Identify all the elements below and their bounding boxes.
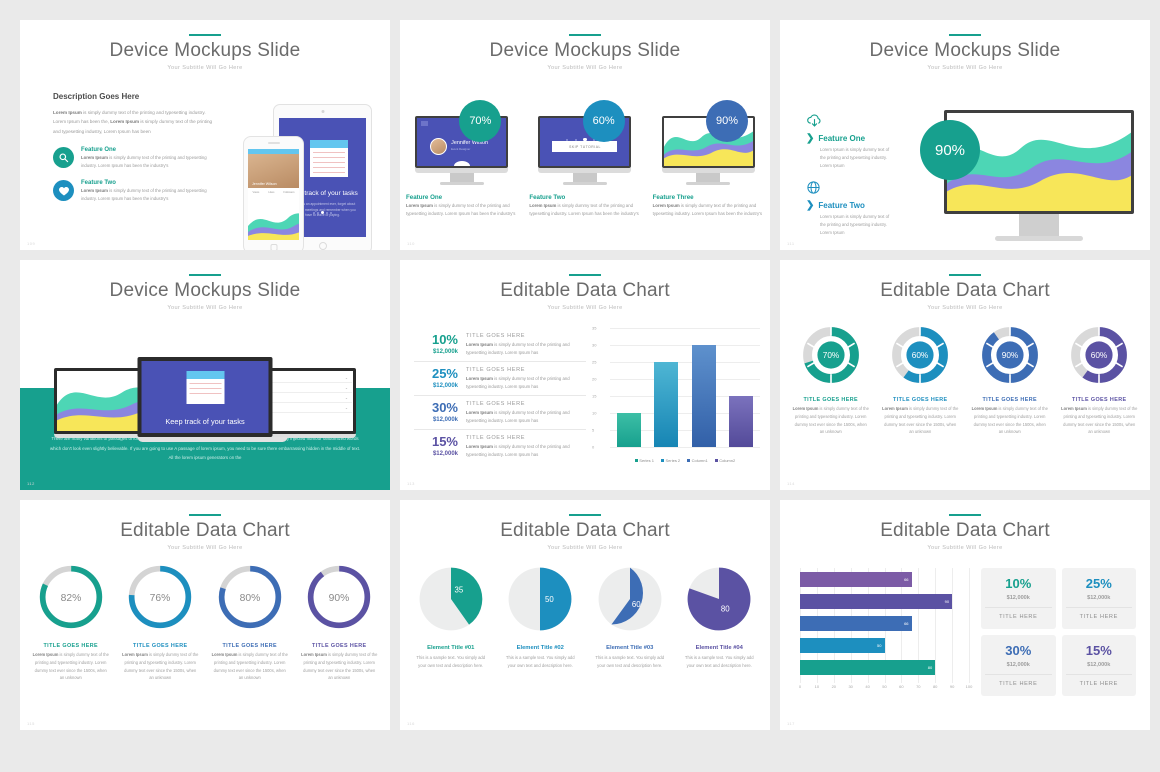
monitor-card-3[interactable]: 90% Feature Three Lorem Ipsum is simply … xyxy=(647,116,770,217)
profile-name: Jennifer Wilson xyxy=(252,182,277,186)
title-rule xyxy=(569,274,601,276)
svg-text:80%: 80% xyxy=(239,593,260,604)
ring-bold: Lorem Ipsum xyxy=(122,652,148,657)
phone-mockup: Jennifer Wilson Views Likes Followers xyxy=(243,136,304,250)
note-card-icon xyxy=(310,140,348,177)
feature-two-text: Lorem Ipsum is simply dummy text of the … xyxy=(81,187,213,202)
stat-row[interactable]: 10% $12,000k TITLE GOES HERE Lorem Ipsum… xyxy=(414,328,586,362)
imac-neck xyxy=(1019,214,1059,236)
tablet-camera-icon xyxy=(321,110,324,113)
speaker-icon xyxy=(268,142,280,144)
donut-bold: Lorem Ipsum xyxy=(793,406,819,411)
monitor-card-1[interactable]: Jennifer Wilson Event Designer 70% Featu… xyxy=(400,116,523,217)
segmented-donut-chart-3: 90% xyxy=(979,324,1041,386)
slide3-feature-one-text: Lorem Ipsum is simply dummy text of the … xyxy=(820,146,894,170)
heart-icon xyxy=(53,180,74,201)
monitor-caption-1: Feature One Lorem Ipsum is simply dummy … xyxy=(400,194,523,217)
kpi-percent: 10% xyxy=(985,577,1052,590)
monitor-stand xyxy=(696,173,720,182)
monitor-bold-3: Lorem Ipsum xyxy=(653,203,680,208)
slide-device-mockups-2[interactable]: Device Mockups Slide Your Subtitle Will … xyxy=(400,20,770,250)
ring-bold: Lorem Ipsum xyxy=(33,652,59,657)
stat-row[interactable]: 30% $12,000k TITLE GOES HERE Lorem Ipsum… xyxy=(414,396,586,430)
feature-two-header: ❯ Feature Two xyxy=(806,200,894,211)
stat-text: Lorem Ipsum is simply dummy text of the … xyxy=(466,341,584,356)
stat-likes: Likes xyxy=(268,191,274,194)
ring-title-2: TITLE GOES HERE xyxy=(116,643,206,649)
svg-text:60%: 60% xyxy=(1091,351,1108,360)
hbar-value: 50 xyxy=(877,643,881,648)
slide-editable-data-chart-1[interactable]: Editable Data Chart Your Subtitle Will G… xyxy=(400,260,770,490)
slide2-title: Device Mockups Slide xyxy=(400,41,770,62)
slide3-header: Device Mockups Slide Your Subtitle Will … xyxy=(780,20,1150,71)
bar-series-2[interactable] xyxy=(654,362,678,447)
donut-title-4: TITLE GOES HERE xyxy=(1055,397,1145,403)
stat-text: Lorem Ipsum is simply dummy text of the … xyxy=(466,375,584,390)
ring-title-3: TITLE GOES HERE xyxy=(205,643,295,649)
desc-bold-1: Lorem Ipsum xyxy=(53,110,82,115)
donut-title-1: TITLE GOES HERE xyxy=(786,397,876,403)
segmented-donut-row: 70% TITLE GOES HERE Lorem Ipsum is simpl… xyxy=(786,324,1144,436)
chevron-down-icon[interactable]: ⌄ xyxy=(345,396,348,400)
pie-title-3: Element Title #03 xyxy=(585,645,675,651)
slide3-feature-two-text: Lorem Ipsum is simply dummy text of the … xyxy=(820,213,894,237)
kpi-card-2[interactable]: 25% $12,000k TITLE HERE xyxy=(1062,568,1137,629)
bar-series-1[interactable] xyxy=(617,413,641,447)
slide5-subtitle: Your Subtitle Will Go Here xyxy=(400,305,770,311)
svg-text:90%: 90% xyxy=(1001,351,1018,360)
title-rule xyxy=(949,514,981,516)
kpi-grid: 10% $12,000k TITLE HERE 25% $12,000k TIT… xyxy=(981,568,1136,696)
stat-money: $12,000k xyxy=(416,417,458,423)
stat-bold: Lorem Ipsum xyxy=(466,342,493,347)
slide3-title: Device Mockups Slide xyxy=(780,41,1150,62)
slide7-subtitle: Your Subtitle Will Go Here xyxy=(20,545,390,551)
vertical-bar-chart: 0 5 10 15 20 25 30 35 Series 1 Series 2 … xyxy=(592,328,760,463)
chevron-right-icon: ❯ xyxy=(806,133,814,144)
legend-label: Series 2 xyxy=(665,458,680,463)
monitor-card-2[interactable]: SKIP TUTORIAL 60% Feature Two Lorem Ipsu… xyxy=(523,116,646,217)
donut-text-3: Lorem Ipsum is simply dummy text of the … xyxy=(965,405,1055,436)
slide7-header: Editable Data Chart Your Subtitle Will G… xyxy=(20,500,390,551)
note-card-icon xyxy=(186,371,224,404)
kpi-money: $12,000k xyxy=(985,595,1052,608)
monitor-base xyxy=(440,182,484,185)
stat-title: TITLE GOES HERE xyxy=(466,333,584,339)
hbar-x-axis: 0 10 20 30 40 50 60 70 80 90 100 xyxy=(800,684,969,696)
ring-title-4: TITLE GOES HERE xyxy=(295,643,385,649)
note-line xyxy=(313,162,345,163)
legend-item[interactable]: Column2 xyxy=(715,458,736,463)
slide4-page-number: 112 xyxy=(27,481,35,486)
stat-title: TITLE GOES HERE xyxy=(466,367,584,373)
ring-text-1: Lorem Ipsum is simply dummy text of the … xyxy=(26,651,116,682)
title-rule xyxy=(949,274,981,276)
slide3-subtitle: Your Subtitle Will Go Here xyxy=(780,65,1150,71)
monitor-title-1: Feature One xyxy=(406,194,517,201)
monitor-bold-2: Lorem Ipsum xyxy=(529,203,556,208)
slide-device-mockups-3[interactable]: Device Mockups Slide Your Subtitle Will … xyxy=(780,20,1150,250)
legend-label: Series 1 xyxy=(639,458,654,463)
slide-editable-data-chart-2[interactable]: Editable Data Chart Your Subtitle Will G… xyxy=(780,260,1150,490)
donut-title-3: TITLE GOES HERE xyxy=(965,397,1055,403)
note-line xyxy=(313,167,345,168)
laptop-center-screen: Keep track of your tasks xyxy=(138,357,273,437)
stat-money: $12,000k xyxy=(416,451,458,457)
slide7-title: Editable Data Chart xyxy=(20,521,390,542)
stat-percent: 30% xyxy=(416,401,458,414)
donut-card-2[interactable]: 60% TITLE GOES HERE Lorem Ipsum is simpl… xyxy=(876,324,966,436)
stat-bold: Lorem Ipsum xyxy=(466,376,493,381)
badge-90-percent: 90% xyxy=(706,100,748,142)
donut-bold: Lorem Ipsum xyxy=(882,406,908,411)
horizontal-bar-chart: 66 90 66 50 80 0 10 20 30 40 50 60 70 80… xyxy=(798,568,973,696)
kpi-percent: 30% xyxy=(985,644,1052,657)
title-rule xyxy=(949,34,981,36)
svg-text:80: 80 xyxy=(721,605,730,614)
monitor-title-3: Feature Three xyxy=(653,194,764,201)
monitor-text-1: Lorem Ipsum is simply dummy text of the … xyxy=(406,202,517,217)
segmented-donut-chart-2: 60% xyxy=(889,324,951,386)
monitor-stand xyxy=(450,173,474,182)
imac-base xyxy=(995,236,1083,241)
svg-text:50: 50 xyxy=(545,595,554,604)
kpi-title: TITLE HERE xyxy=(1066,614,1133,620)
chevron-down-icon[interactable]: ⌄ xyxy=(345,376,348,380)
slide2-subtitle: Your Subtitle Will Go Here xyxy=(400,65,770,71)
title-rule xyxy=(569,34,601,36)
pie-card-4[interactable]: 80 Element Title #04 This is a sample te… xyxy=(675,566,765,670)
ring-donut-row: 82% TITLE GOES HERE Lorem Ipsum is simpl… xyxy=(26,562,384,682)
donut-card-3[interactable]: 90% TITLE GOES HERE Lorem Ipsum is simpl… xyxy=(965,324,1055,436)
kpi-money: $12,000k xyxy=(985,662,1052,675)
slide8-title: Editable Data Chart xyxy=(400,521,770,542)
slide2-page-number: 110 xyxy=(407,241,415,246)
chevron-down-icon[interactable]: ⌄ xyxy=(345,406,348,410)
hbar-value: 90 xyxy=(945,599,949,604)
slide1-left-column: Description Goes Here Lorem Ipsum is sim… xyxy=(53,92,213,202)
pie-text-4: This is a sample text. You simply add yo… xyxy=(675,654,765,670)
ring-chart-80: 80% xyxy=(215,562,285,632)
phone-home-icon[interactable] xyxy=(270,244,277,250)
profile-photo: Jennifer Wilson xyxy=(248,154,299,188)
y-axis: 0 5 10 15 20 25 30 35 xyxy=(592,328,610,447)
ring-card-2[interactable]: 76% TITLE GOES HERE Lorem Ipsum is simpl… xyxy=(116,562,206,682)
slide9-subtitle: Your Subtitle Will Go Here xyxy=(780,545,1150,551)
stat-text: Lorem Ipsum is simply dummy text of the … xyxy=(466,443,584,458)
kpi-title: TITLE HERE xyxy=(985,681,1052,687)
stat-body: TITLE GOES HERE Lorem Ipsum is simply du… xyxy=(466,401,584,424)
slide-deck: Device Mockups Slide Your Subtitle Will … xyxy=(0,0,1160,772)
search-icon xyxy=(53,147,74,168)
hbar-value: 80 xyxy=(928,665,932,670)
slide6-subtitle: Your Subtitle Will Go Here xyxy=(780,305,1150,311)
slide6-title: Editable Data Chart xyxy=(780,281,1150,302)
laptop-caption: Keep track of your tasks xyxy=(142,417,269,426)
monitor-row: Jennifer Wilson Event Designer 70% Featu… xyxy=(400,116,770,217)
feature-one-text: Lorem Ipsum is simply dummy text of the … xyxy=(81,154,213,169)
deck-row-1: Device Mockups Slide Your Subtitle Will … xyxy=(20,20,1140,250)
pie-title-1: Element Title #01 xyxy=(406,645,496,651)
donut-title-2: TITLE GOES HERE xyxy=(876,397,966,403)
kpi-money: $12,000k xyxy=(1066,595,1133,608)
slide1-page-number: 109 xyxy=(27,241,35,246)
stat-bold: Lorem Ipsum xyxy=(466,410,493,415)
slide1-subtitle: Your Subtitle Will Go Here xyxy=(20,65,390,71)
ring-bold: Lorem Ipsum xyxy=(301,652,327,657)
pie-title-4: Element Title #04 xyxy=(675,645,765,651)
pie-card-3[interactable]: 60 Element Title #03 This is a sample te… xyxy=(585,566,675,670)
description-body: Lorem Ipsum is simply dummy text of the … xyxy=(53,108,213,136)
phone-screen: Jennifer Wilson Views Likes Followers xyxy=(248,149,299,240)
svg-text:70%: 70% xyxy=(822,351,839,360)
slide-editable-data-chart-5[interactable]: Editable Data Chart Your Subtitle Will G… xyxy=(780,500,1150,730)
stat-row[interactable]: 25% $12,000k TITLE GOES HERE Lorem Ipsum… xyxy=(414,362,586,396)
ring-chart-82: 82% xyxy=(36,562,106,632)
stat-numbers: 25% $12,000k xyxy=(416,367,458,390)
ring-chart-76: 76% xyxy=(125,562,195,632)
stat-bold: Lorem Ipsum xyxy=(466,444,493,449)
stat-title: TITLE GOES HERE xyxy=(466,401,584,407)
title-rule xyxy=(569,514,601,516)
monitor-stand xyxy=(573,173,597,182)
monitor-caption-3: Feature Three Lorem Ipsum is simply dumm… xyxy=(647,194,770,217)
donut-card-4[interactable]: 60% TITLE GOES HERE Lorem Ipsum is simpl… xyxy=(1055,324,1145,436)
slide3-feature-two-title: Feature Two xyxy=(818,201,865,210)
stat-percent: 15% xyxy=(416,435,458,448)
feature-item-one[interactable]: Feature One Lorem Ipsum is simply dummy … xyxy=(53,147,213,169)
bar-chart-legend: Series 1 Series 2 Column1 Column2 xyxy=(610,458,760,463)
hbar-3[interactable]: 66 xyxy=(800,616,912,631)
badge-60-percent: 60% xyxy=(583,100,625,142)
chevron-right-icon: ❯ xyxy=(806,200,814,211)
hbar-plot-area: 66 90 66 50 80 xyxy=(800,568,969,683)
slide3-page-number: 111 xyxy=(787,241,795,246)
svg-text:60%: 60% xyxy=(912,351,929,360)
ring-text-2: Lorem Ipsum is simply dummy text of the … xyxy=(116,651,206,682)
home-button-icon[interactable] xyxy=(319,242,327,250)
slide3-feature-one[interactable]: ❯ Feature One Lorem Ipsum is simply dumm… xyxy=(806,114,894,170)
note-line xyxy=(313,172,345,173)
stat-body: TITLE GOES HERE Lorem Ipsum is simply du… xyxy=(466,367,584,390)
ring-text-3: Lorem Ipsum is simply dummy text of the … xyxy=(205,651,295,682)
feature-one-bold: Lorem Ipsum xyxy=(81,155,108,160)
slide3-feature-one-title: Feature One xyxy=(818,134,865,143)
stat-numbers: 10% $12,000k xyxy=(416,333,458,356)
slide5-title: Editable Data Chart xyxy=(400,281,770,302)
monitor-title-2: Feature Two xyxy=(529,194,640,201)
svg-text:60: 60 xyxy=(632,600,641,609)
hbar-value: 66 xyxy=(904,621,908,626)
laptop-center: Keep track of your tasks xyxy=(138,357,273,442)
kpi-percent: 15% xyxy=(1066,644,1133,657)
slide6-page-number: 114 xyxy=(787,481,795,486)
pie-chart-35: 35 xyxy=(418,566,484,632)
description-heading: Description Goes Here xyxy=(53,92,213,101)
slide9-header: Editable Data Chart Your Subtitle Will G… xyxy=(780,500,1150,551)
chevron-down-icon[interactable]: ⌄ xyxy=(345,386,348,390)
kpi-title: TITLE HERE xyxy=(1066,681,1133,687)
pie-text-2: This is a sample text. You simply add yo… xyxy=(496,654,586,670)
stat-title: TITLE GOES HERE xyxy=(466,435,584,441)
slide9-title: Editable Data Chart xyxy=(780,521,1150,542)
donut-bold: Lorem Ipsum xyxy=(972,406,998,411)
legend-label: Column1 xyxy=(692,458,708,463)
ring-bold: Lorem Ipsum xyxy=(212,652,238,657)
stat-followers: Followers xyxy=(283,191,294,194)
slide6-header: Editable Data Chart Your Subtitle Will G… xyxy=(780,260,1150,311)
legend-label: Column2 xyxy=(719,458,735,463)
stat-body: TITLE GOES HERE Lorem Ipsum is simply du… xyxy=(466,435,584,458)
slide5-page-number: 113 xyxy=(407,481,415,486)
deck-row-2: Device Mockups Slide Your Subtitle Will … xyxy=(20,260,1140,490)
kpi-title: TITLE HERE xyxy=(985,614,1052,620)
pie-title-2: Element Title #02 xyxy=(496,645,586,651)
donut-card-1[interactable]: 70% TITLE GOES HERE Lorem Ipsum is simpl… xyxy=(786,324,876,436)
stat-numbers: 15% $12,000k xyxy=(416,435,458,458)
kpi-money: $12,000k xyxy=(1066,662,1133,675)
kpi-card-1[interactable]: 10% $12,000k TITLE HERE xyxy=(981,568,1056,629)
monitor-text-2: Lorem Ipsum is simply dummy text of the … xyxy=(529,202,640,217)
slide8-subtitle: Your Subtitle Will Go Here xyxy=(400,545,770,551)
svg-text:82%: 82% xyxy=(60,593,81,604)
pie-text-1: This is a sample text. You simply add yo… xyxy=(406,654,496,670)
legend-item[interactable]: Series 2 xyxy=(661,458,680,463)
globe-icon xyxy=(806,180,894,198)
slide5-header: Editable Data Chart Your Subtitle Will G… xyxy=(400,260,770,311)
hbar-2[interactable]: 50 xyxy=(800,638,885,653)
note-line xyxy=(313,152,345,153)
feature-two-bold: Lorem Ipsum xyxy=(81,188,108,193)
donut-bold: Lorem Ipsum xyxy=(1061,406,1087,411)
slide-editable-data-chart-4[interactable]: Editable Data Chart Your Subtitle Will G… xyxy=(400,500,770,730)
badge-90-percent: 90% xyxy=(920,120,980,180)
legend-item[interactable]: Column1 xyxy=(687,458,708,463)
ring-chart-90: 90% xyxy=(304,562,374,632)
slide7-page-number: 115 xyxy=(27,721,35,726)
note-card-header xyxy=(310,140,348,148)
slide1-title: Device Mockups Slide xyxy=(20,41,390,62)
hbar-value: 66 xyxy=(904,577,908,582)
feature-item-two[interactable]: Feature Two Lorem Ipsum is simply dummy … xyxy=(53,180,213,202)
slide4-subtitle: Your Subtitle Will Go Here xyxy=(20,305,390,311)
stat-list: 10% $12,000k TITLE GOES HERE Lorem Ipsum… xyxy=(414,328,586,463)
pie-card-2[interactable]: 50 Element Title #02 This is a sample te… xyxy=(496,566,586,670)
bar-plot-area xyxy=(610,328,760,447)
title-rule xyxy=(189,514,221,516)
donut-text-2: Lorem Ipsum is simply dummy text of the … xyxy=(876,405,966,436)
stat-percent: 25% xyxy=(416,367,458,380)
feature-one-title: Feature One xyxy=(81,147,213,153)
bar-series xyxy=(610,328,760,447)
pie-chart-50: 50 xyxy=(507,566,573,632)
stat-views: Views xyxy=(252,191,259,194)
svg-text:90%: 90% xyxy=(329,593,350,604)
hbar-4[interactable]: 90 xyxy=(800,594,952,609)
deck-row-3: Editable Data Chart Your Subtitle Will G… xyxy=(20,500,1140,730)
feature-two-title: Feature Two xyxy=(81,180,213,186)
pie-chart-60: 60 xyxy=(597,566,663,632)
stat-numbers: 30% $12,000k xyxy=(416,401,458,424)
ring-card-4[interactable]: 90% TITLE GOES HERE Lorem Ipsum is simpl… xyxy=(295,562,385,682)
ring-card-1[interactable]: 82% TITLE GOES HERE Lorem Ipsum is simpl… xyxy=(26,562,116,682)
desc-bold-3: Lorem Ipsum xyxy=(110,119,139,124)
hbar-5[interactable]: 66 xyxy=(800,572,912,587)
feature-one-header: ❯ Feature One xyxy=(806,133,894,144)
slide-editable-data-chart-3[interactable]: Editable Data Chart Your Subtitle Will G… xyxy=(20,500,390,730)
slide8-page-number: 116 xyxy=(407,721,415,726)
stat-row[interactable]: 15% $12,000k TITLE GOES HERE Lorem Ipsum… xyxy=(414,430,586,463)
ring-card-3[interactable]: 80% TITLE GOES HERE Lorem Ipsum is simpl… xyxy=(205,562,295,682)
pie-chart-80: 80 xyxy=(686,566,752,632)
monitor-base xyxy=(686,182,730,185)
slide3-feature-two[interactable]: ❯ Feature Two Lorem Ipsum is simply dumm… xyxy=(806,180,894,237)
stat-money: $12,000k xyxy=(416,349,458,355)
monitor-caption-2: Feature Two Lorem Ipsum is simply dummy … xyxy=(523,194,646,217)
slide1-header: Device Mockups Slide Your Subtitle Will … xyxy=(20,20,390,71)
stat-money: $12,000k xyxy=(416,383,458,389)
slide4-title: Device Mockups Slide xyxy=(20,281,390,302)
bar-column2[interactable] xyxy=(729,396,753,447)
ring-text-4: Lorem Ipsum is simply dummy text of the … xyxy=(295,651,385,682)
slide4-header: Device Mockups Slide Your Subtitle Will … xyxy=(20,260,390,311)
pie-card-1[interactable]: 35 Element Title #01 This is a sample te… xyxy=(406,566,496,670)
legend-item[interactable]: Series 1 xyxy=(635,458,654,463)
pie-text-3: This is a sample text. You simply add yo… xyxy=(585,654,675,670)
monitor-base xyxy=(563,182,607,185)
slide-device-mockups-1[interactable]: Device Mockups Slide Your Subtitle Will … xyxy=(20,20,390,250)
skip-tutorial-button[interactable]: SKIP TUTORIAL xyxy=(552,141,617,152)
title-rule xyxy=(189,34,221,36)
title-rule xyxy=(189,274,221,276)
segmented-donut-chart-4: 60% xyxy=(1068,324,1130,386)
pie-row: 35 Element Title #01 This is a sample te… xyxy=(406,566,764,670)
donut-text-1: Lorem Ipsum is simply dummy text of the … xyxy=(786,405,876,436)
slide8-header: Editable Data Chart Your Subtitle Will G… xyxy=(400,500,770,551)
monitor-profile-role: Event Designer xyxy=(451,147,470,151)
stat-text: Lorem Ipsum is simply dummy text of the … xyxy=(466,409,584,424)
slide-device-mockups-4[interactable]: Device Mockups Slide Your Subtitle Will … xyxy=(20,260,390,490)
laptop-center-base xyxy=(138,437,288,442)
kpi-card-3[interactable]: 30% $12,000k TITLE HERE xyxy=(981,635,1056,696)
kpi-card-4[interactable]: 15% $12,000k TITLE HERE xyxy=(1062,635,1137,696)
segmented-donut-chart-1: 70% xyxy=(800,324,862,386)
hbar-1[interactable]: 80 xyxy=(800,660,935,675)
kpi-percent: 25% xyxy=(1066,577,1133,590)
svg-text:35: 35 xyxy=(454,586,463,595)
slide9-page-number: 117 xyxy=(787,721,795,726)
monitor-bold-1: Lorem Ipsum xyxy=(406,203,433,208)
cloud-download-icon xyxy=(806,114,894,131)
monitor-text-3: Lorem Ipsum is simply dummy text of the … xyxy=(653,202,764,217)
bar-column1[interactable] xyxy=(692,345,716,447)
profile-stats: Views Likes Followers xyxy=(248,188,299,197)
donut-text-4: Lorem Ipsum is simply dummy text of the … xyxy=(1055,405,1145,436)
phone-wave-chart xyxy=(248,198,299,240)
svg-text:76%: 76% xyxy=(150,593,171,604)
stat-percent: 10% xyxy=(416,333,458,346)
stat-body: TITLE GOES HERE Lorem Ipsum is simply du… xyxy=(466,333,584,356)
note-line xyxy=(313,157,345,158)
slide2-header: Device Mockups Slide Your Subtitle Will … xyxy=(400,20,770,71)
ring-title-1: TITLE GOES HERE xyxy=(26,643,116,649)
